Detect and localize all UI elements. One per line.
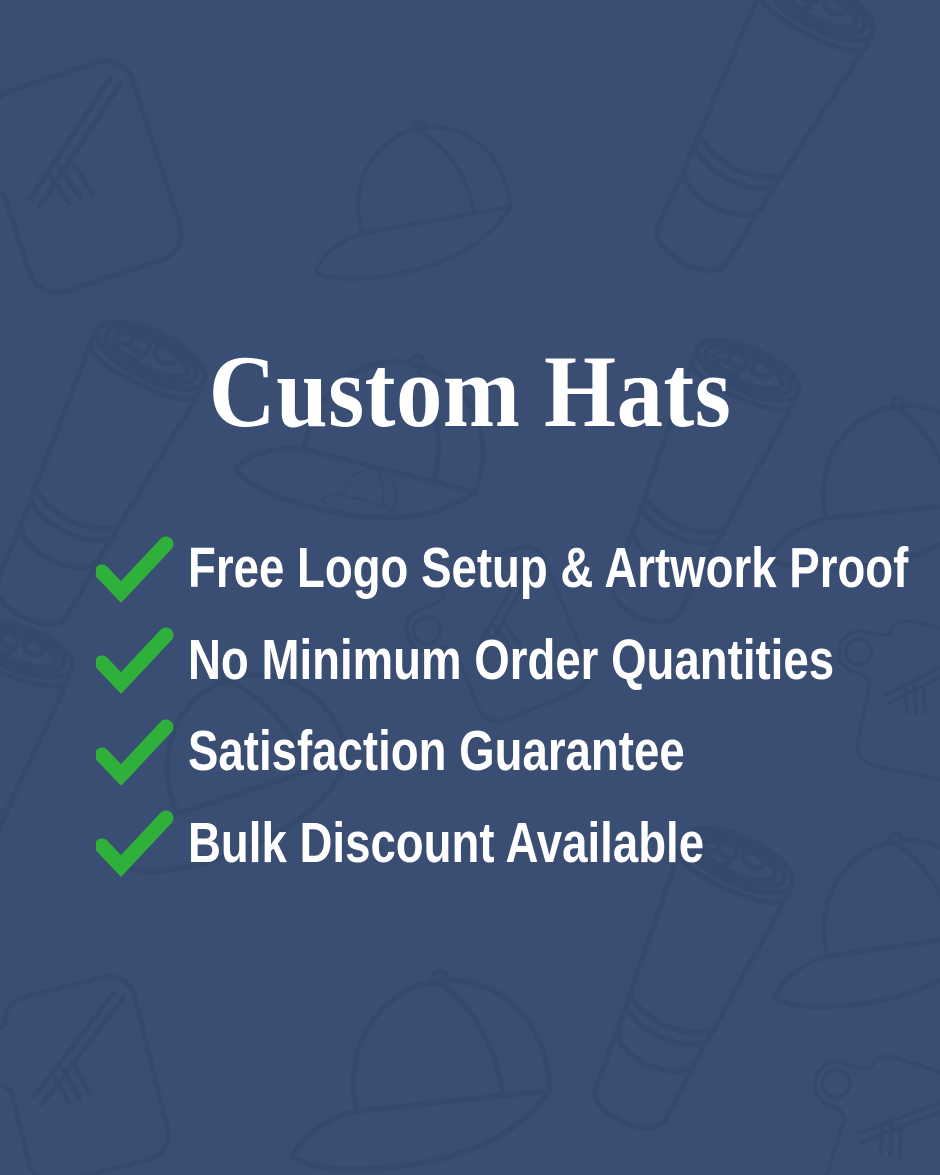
list-item: Free Logo Setup & Artwork Proof bbox=[96, 525, 916, 617]
check-icon bbox=[96, 532, 174, 610]
list-item-label: Bulk Discount Available bbox=[188, 815, 704, 876]
check-icon bbox=[96, 806, 174, 884]
check-icon bbox=[96, 715, 174, 793]
promo-poster: Custom Hats Free Logo Setup & Artwork Pr… bbox=[0, 0, 940, 1175]
list-item-label: Satisfaction Guarantee bbox=[188, 723, 685, 784]
list-item-label: No Minimum Order Quantities bbox=[188, 632, 834, 693]
list-item: Bulk Discount Available bbox=[96, 800, 916, 892]
check-icon bbox=[96, 623, 174, 701]
list-item: Satisfaction Guarantee bbox=[96, 708, 916, 800]
page-title: Custom Hats bbox=[47, 341, 893, 444]
benefits-list: Free Logo Setup & Artwork Proof No Minim… bbox=[96, 525, 916, 891]
list-item: No Minimum Order Quantities bbox=[96, 617, 916, 709]
poster-content: Custom Hats Free Logo Setup & Artwork Pr… bbox=[0, 0, 940, 1175]
list-item-label: Free Logo Setup & Artwork Proof bbox=[188, 540, 908, 601]
